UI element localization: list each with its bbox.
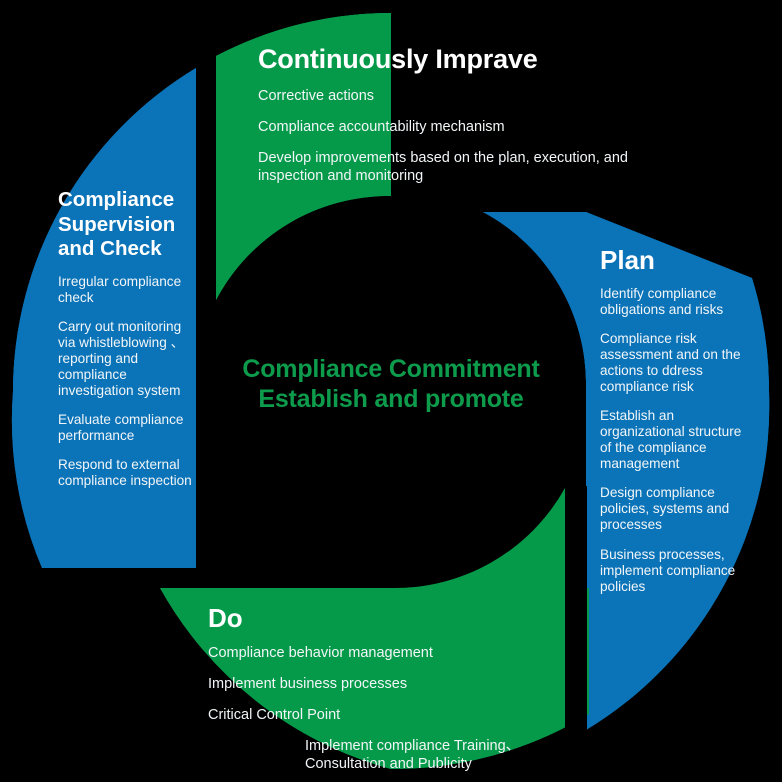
segment-check-item-3: Evaluate compliance performance (58, 412, 198, 444)
segment-plan-item-2: Compliance risk assessment and on the ac… (600, 331, 752, 395)
segment-plan-item-1: Identify compliance obligations and risk… (600, 286, 752, 318)
segment-improve-item-2: Compliance accountability mechanism (258, 119, 630, 136)
segment-improve-text: Continuously Imprave Corrective actions … (258, 44, 658, 199)
segment-do-item-1: Compliance behavior management (208, 645, 598, 662)
segment-plan-item-3: Establish an organizational structure of… (600, 408, 752, 472)
segment-check-item-2: Carry out monitoring via whistleblowing … (58, 319, 198, 399)
gap-check-do (24, 568, 199, 588)
segment-improve-item-3: Develop improvements based on the plan, … (258, 150, 630, 184)
center-hub-line-2: Establish and promote (191, 385, 591, 415)
segment-do-title: Do (208, 604, 598, 633)
segment-plan-item-5: Business processes, implement compliance… (600, 547, 752, 595)
segment-improve-title: Continuously Imprave (258, 44, 658, 74)
segment-check-text: Compliance Supervision and Check Irregul… (58, 188, 198, 502)
segment-check-item-4: Respond to external compliance inspectio… (58, 457, 198, 489)
segment-improve-item-1: Corrective actions (258, 88, 630, 105)
segment-do-text: Do Compliance behavior management Implem… (208, 604, 598, 782)
segment-plan-title: Plan (600, 246, 752, 275)
segment-do-item-2: Implement business processes (208, 676, 598, 693)
center-hub-line-1: Compliance Commitment (191, 355, 591, 385)
segment-do-item-3: Critical Control Point (208, 707, 598, 724)
segment-plan-item-4: Design compliance policies, systems and … (600, 485, 752, 533)
segment-check-title: Compliance Supervision and Check (58, 188, 198, 262)
segment-plan-text: Plan Identify compliance obligations and… (600, 246, 752, 608)
segment-do-item-4: Implement compliance Training、Consultati… (305, 738, 555, 772)
center-hub-text: Compliance Commitment Establish and prom… (191, 355, 591, 414)
pdca-cycle-diagram: Continuously Imprave Corrective actions … (0, 0, 782, 782)
segment-check-item-1: Irregular compliance check (58, 274, 198, 306)
gap-check-improve (196, 40, 216, 302)
